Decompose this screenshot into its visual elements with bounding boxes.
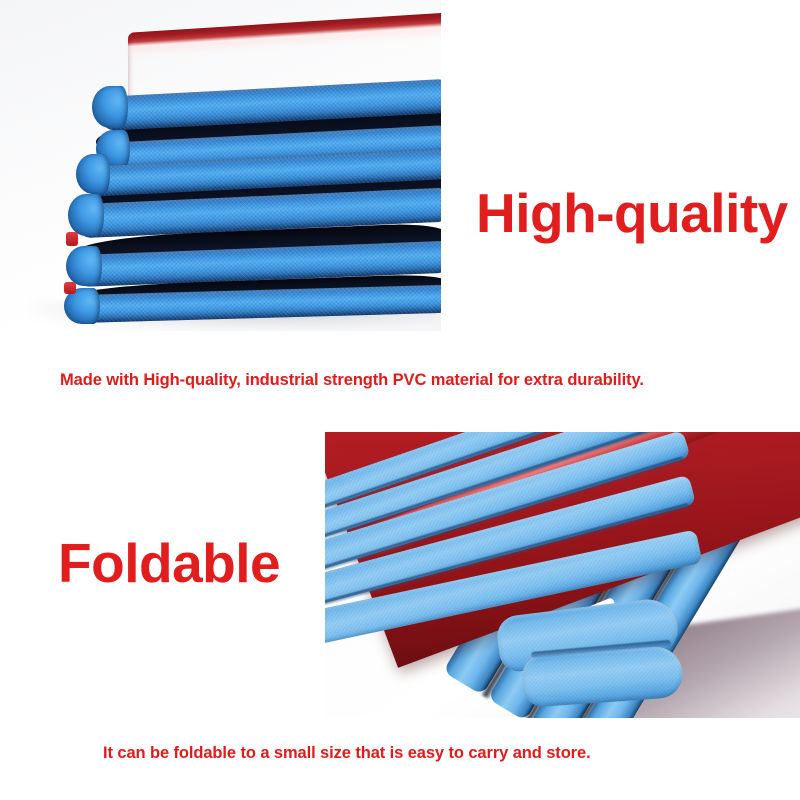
fold-nose-3 [68, 194, 104, 236]
folded-pvc-tarp-stack-photo [0, 0, 441, 331]
caption-high-quality: Made with High-quality, industrial stren… [60, 371, 644, 390]
fold-nose-1 [92, 86, 128, 128]
headline-high-quality: High-quality [476, 181, 788, 245]
red-sliver-left-upper [66, 232, 78, 246]
headline-foldable: Foldable [58, 531, 280, 595]
caption-foldable: It can be foldable to a small size that … [103, 744, 591, 763]
red-sliver-left-lower [64, 282, 76, 294]
product-feature-page: High-quality Made with High-quality, ind… [0, 0, 800, 800]
fold-nose-4 [66, 246, 102, 286]
folded-tarp-closeup-photo [325, 432, 800, 718]
fold-nose-2 [76, 154, 110, 194]
